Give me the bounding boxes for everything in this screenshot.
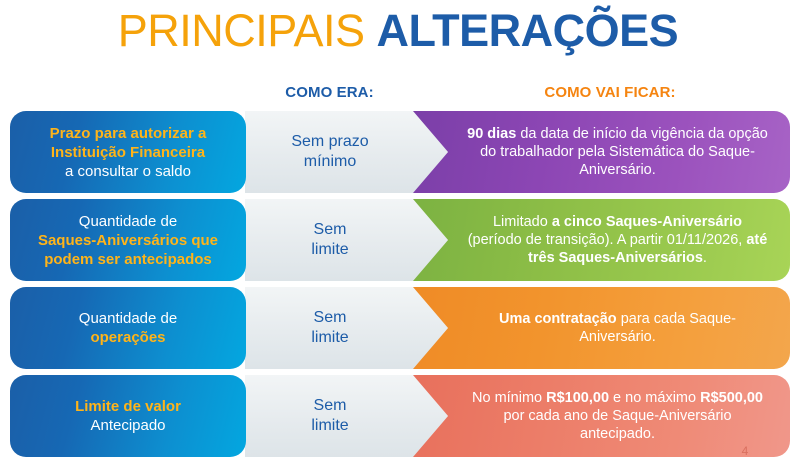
text-segment: Saques-Aniversários que podem ser anteci… bbox=[38, 232, 218, 268]
text-segment: Quantidade de bbox=[79, 213, 177, 230]
text-segment: Antecipado bbox=[90, 417, 165, 434]
text-segment: Quantidade de bbox=[79, 310, 177, 327]
text-segment: Limitado bbox=[493, 214, 552, 230]
row-before-value: Semlimite bbox=[255, 199, 405, 281]
text-segment: Limite de valor bbox=[75, 398, 181, 415]
text-segment: e no máximo bbox=[609, 390, 700, 406]
row-topic-text: Quantidade de Saques-Aniversários que po… bbox=[20, 212, 236, 269]
row-after-text: Uma contratação para cada Saque-Aniversá… bbox=[467, 310, 768, 346]
row-after-arrow-wrap: Limitado a cinco Saques-Aniversário (per… bbox=[413, 199, 790, 281]
row-after-arrow[interactable]: Limitado a cinco Saques-Aniversário (per… bbox=[413, 199, 790, 281]
row-topic-pill[interactable]: Quantidade de Saques-Aniversários que po… bbox=[10, 199, 246, 281]
row-after-text: 90 dias da data de início da vigência da… bbox=[467, 125, 768, 179]
row-topic-pill[interactable]: Limite de valorAntecipado bbox=[10, 375, 246, 457]
title-word-alteracoes: ALTERAÇÕES bbox=[377, 5, 679, 56]
row-before-value: Semlimite bbox=[255, 375, 405, 457]
row-after-arrow[interactable]: 90 dias da data de início da vigência da… bbox=[413, 111, 790, 193]
row-topic-text: Limite de valorAntecipado bbox=[75, 397, 181, 435]
row-after-arrow-wrap: 90 dias da data de início da vigência da… bbox=[413, 111, 790, 193]
row-topic-text: Quantidade deoperações bbox=[79, 309, 177, 347]
row-after-text: Limitado a cinco Saques-Aniversário (per… bbox=[467, 213, 768, 267]
text-segment: a cinco Saques-Aniversário bbox=[552, 214, 742, 230]
text-segment: operações bbox=[90, 329, 165, 346]
text-segment: Instituição Financeira bbox=[51, 144, 205, 161]
comparison-row: Quantidade deoperações Semlimite Uma con… bbox=[0, 287, 796, 369]
row-after-arrow[interactable]: No mínimo R$100,00 e no máximo R$500,00 … bbox=[413, 375, 790, 457]
row-after-arrow-wrap: Uma contratação para cada Saque-Aniversá… bbox=[413, 287, 790, 369]
text-segment: Prazo para autorizar a bbox=[50, 125, 207, 142]
infographic-page: PRINCIPAIS ALTERAÇÕES COMO ERA: COMO VAI… bbox=[0, 0, 796, 473]
text-segment: No mínimo bbox=[472, 390, 546, 406]
text-segment: (período de transição). A partir 01/11/2… bbox=[468, 232, 747, 248]
text-segment: R$100,00 bbox=[546, 390, 609, 406]
page-title: PRINCIPAIS ALTERAÇÕES bbox=[0, 4, 796, 58]
page-number: 4 bbox=[735, 444, 755, 458]
comparison-row: Prazo para autorizar aInstituição Financ… bbox=[0, 111, 796, 193]
text-segment: R$500,00 bbox=[700, 390, 763, 406]
row-topic-pill[interactable]: Prazo para autorizar aInstituição Financ… bbox=[10, 111, 246, 193]
comparison-row: Limite de valorAntecipado Semlimite No m… bbox=[0, 375, 796, 457]
text-segment: da data de início da vigência da opção d… bbox=[480, 126, 768, 178]
row-topic-text: Prazo para autorizar aInstituição Financ… bbox=[50, 124, 207, 181]
text-segment: . bbox=[703, 250, 707, 266]
column-header-after: COMO VAI FICAR: bbox=[500, 84, 720, 101]
column-header-before: COMO ERA: bbox=[257, 84, 402, 101]
row-before-value: Semlimite bbox=[255, 287, 405, 369]
row-topic-pill[interactable]: Quantidade deoperações bbox=[10, 287, 246, 369]
comparison-row: Quantidade de Saques-Aniversários que po… bbox=[0, 199, 796, 281]
text-segment: 90 dias bbox=[467, 126, 516, 142]
text-segment: a consultar o saldo bbox=[65, 163, 191, 180]
row-after-arrow[interactable]: Uma contratação para cada Saque-Aniversá… bbox=[413, 287, 790, 369]
row-after-text: No mínimo R$100,00 e no máximo R$500,00 … bbox=[467, 389, 768, 443]
row-before-value: Sem prazomínimo bbox=[255, 111, 405, 193]
title-word-principais: PRINCIPAIS bbox=[118, 5, 365, 56]
text-segment: Uma contratação bbox=[499, 311, 617, 327]
text-segment: por cada ano de Saque-Aniversário anteci… bbox=[503, 408, 731, 442]
row-after-arrow-wrap: No mínimo R$100,00 e no máximo R$500,00 … bbox=[413, 375, 790, 457]
